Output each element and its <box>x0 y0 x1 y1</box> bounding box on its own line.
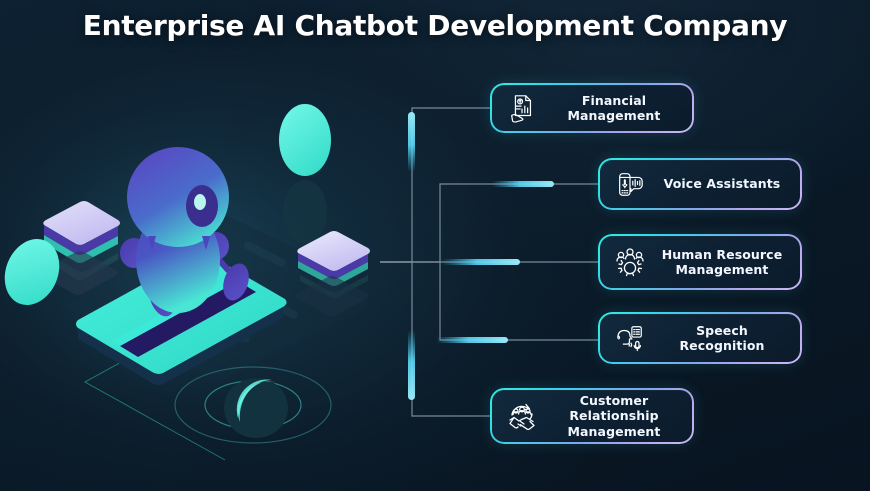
financial-document-chart-icon <box>502 88 542 128</box>
card-customer-relationship-management[interactable]: Customer Relationship Management <box>492 390 692 442</box>
card-label-customer-relationship-management: Customer Relationship Management <box>550 393 678 439</box>
speech-profile-mic-icon <box>610 318 650 358</box>
card-financial-management[interactable]: Financial Management <box>492 85 692 131</box>
wire-voice <box>380 184 600 262</box>
voice-assistant-mic-bubble-icon <box>610 164 650 204</box>
handshake-people-icon <box>502 396 542 436</box>
card-human-resource-management[interactable]: Human Resource Management <box>600 236 800 288</box>
infographic-root: Enterprise AI Chatbot Development Compan… <box>0 0 870 491</box>
card-label-voice-assistants: Voice Assistants <box>658 176 786 191</box>
card-label-financial-management: Financial Management <box>550 93 678 124</box>
people-gear-icon <box>610 242 650 282</box>
card-speech-recognition[interactable]: Speech Recognition <box>600 314 800 362</box>
wire-financial <box>380 108 492 262</box>
wire-pulses <box>408 112 554 400</box>
card-label-human-resource-management: Human Resource Management <box>658 247 786 278</box>
card-label-speech-recognition: Speech Recognition <box>658 323 786 354</box>
wire-speech <box>380 262 600 340</box>
card-voice-assistants[interactable]: Voice Assistants <box>600 160 800 208</box>
